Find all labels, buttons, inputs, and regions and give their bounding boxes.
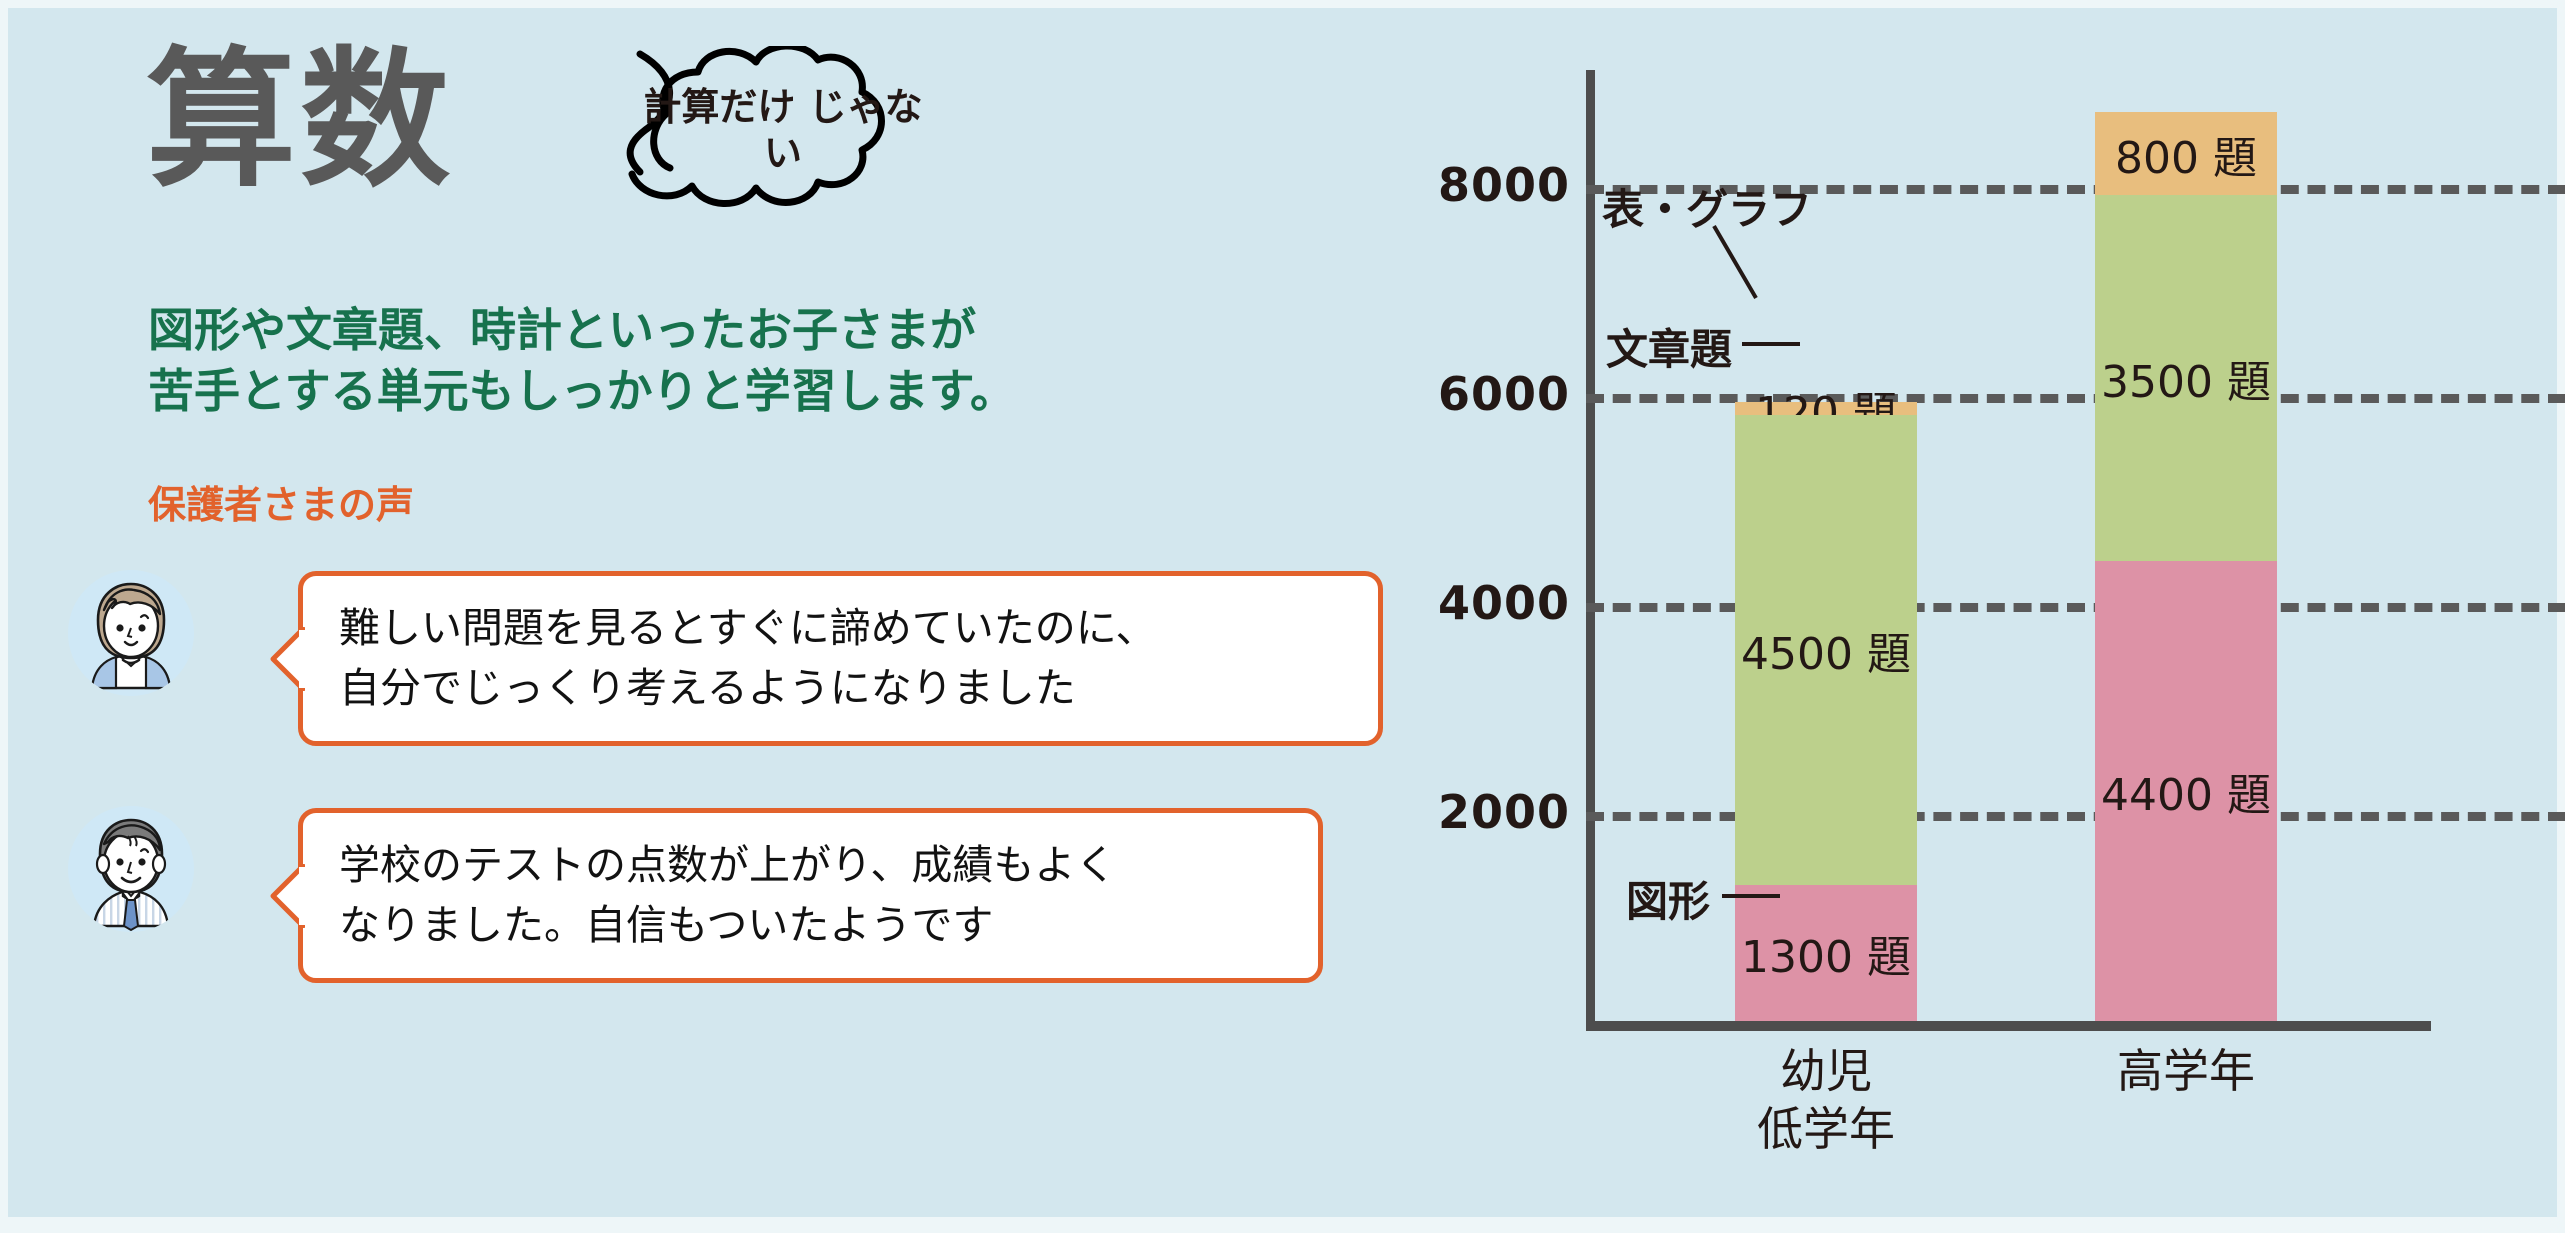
left-panel: 算数 計算だけ じゃない 図形や文章題、時計といったお子さまが 苦手とする単元も…	[8, 8, 1448, 1233]
testimonial-text-1: 難しい問題を見るとすぐに諦めていたのに、 自分でじっくり考えるようになりました	[303, 599, 1193, 717]
bar-segment-label: 800 題	[2115, 122, 2257, 186]
bar-segment-label: 1300 題	[1741, 921, 1911, 985]
y-tick-label-8000: 8000	[1438, 158, 1570, 212]
testimonial-text-2: 学校のテストの点数が上がり、成績もよく なりました。自信もついたようです	[303, 836, 1152, 954]
category-label-1: 幼児 低学年	[1676, 1043, 1976, 1158]
leader-line-zukei	[1720, 890, 1784, 902]
y-axis-line	[1586, 70, 1595, 1030]
bar-segment-label: 3500 題	[2101, 346, 2271, 410]
category-label-2: 高学年	[2036, 1043, 2336, 1101]
page-title: 算数	[146, 46, 454, 196]
x-axis-line	[1586, 1021, 2431, 1031]
bar-segment-文章題[interactable]: 3500 題	[2095, 195, 2277, 561]
bar-2[interactable]: 800 題3500 題4400 題	[2095, 112, 2277, 1021]
bar-segment-図形[interactable]: 1300 題	[1735, 885, 1917, 1021]
father-avatar-icon	[68, 806, 194, 932]
bar-segment-図形[interactable]: 4400 題	[2095, 561, 2277, 1021]
stacked-bar-chart: 2000400060008000 120 題4500 題1300 題800 題3…	[1458, 8, 2565, 1233]
infographic-canvas: 算数 計算だけ じゃない 図形や文章題、時計といったお子さまが 苦手とする単元も…	[0, 0, 2565, 1225]
bar-segment-表・グラフ[interactable]: 800 題	[2095, 112, 2277, 196]
bar-segment-文章題[interactable]: 4500 題	[1735, 415, 1917, 885]
bar-segment-label: 4400 題	[2101, 759, 2271, 823]
y-tick-label-6000: 6000	[1438, 367, 1570, 421]
gridline-4000	[1586, 603, 2565, 612]
leader-line-hyou-graph	[1708, 220, 1788, 310]
mother-avatar-icon	[68, 570, 194, 696]
bar-segment-表・グラフ[interactable]: 120 題	[1735, 402, 1917, 415]
testimonial-bubble-1: 難しい問題を見るとすぐに諦めていたのに、 自分でじっくり考えるようになりました	[298, 571, 1383, 746]
voices-heading: 保護者さまの声	[148, 474, 414, 529]
bar-1[interactable]: 120 題4500 題1300 題	[1735, 402, 1917, 1021]
annotation-bunshoudai: 文章題	[1606, 316, 1732, 377]
gridline-2000	[1586, 812, 2565, 821]
testimonial-bubble-2: 学校のテストの点数が上がり、成績もよく なりました。自信もついたようです	[298, 808, 1323, 983]
y-tick-label-4000: 4000	[1438, 576, 1570, 630]
callout-cloud: 計算だけ じゃない	[528, 46, 948, 211]
annotation-zukei: 図形	[1626, 868, 1710, 929]
gridline-6000	[1586, 394, 2565, 403]
bubble-tail-icon	[269, 627, 305, 691]
callout-text: 計算だけ じゃない	[643, 84, 923, 177]
lede-text: 図形や文章題、時計といったお子さまが 苦手とする単元もしっかりと学習します。	[148, 300, 1016, 421]
bar-segment-label: 4500 題	[1741, 618, 1911, 682]
leader-line-bunshoudai	[1740, 338, 1804, 350]
y-tick-label-2000: 2000	[1438, 785, 1570, 839]
bubble-tail-icon	[269, 864, 305, 928]
